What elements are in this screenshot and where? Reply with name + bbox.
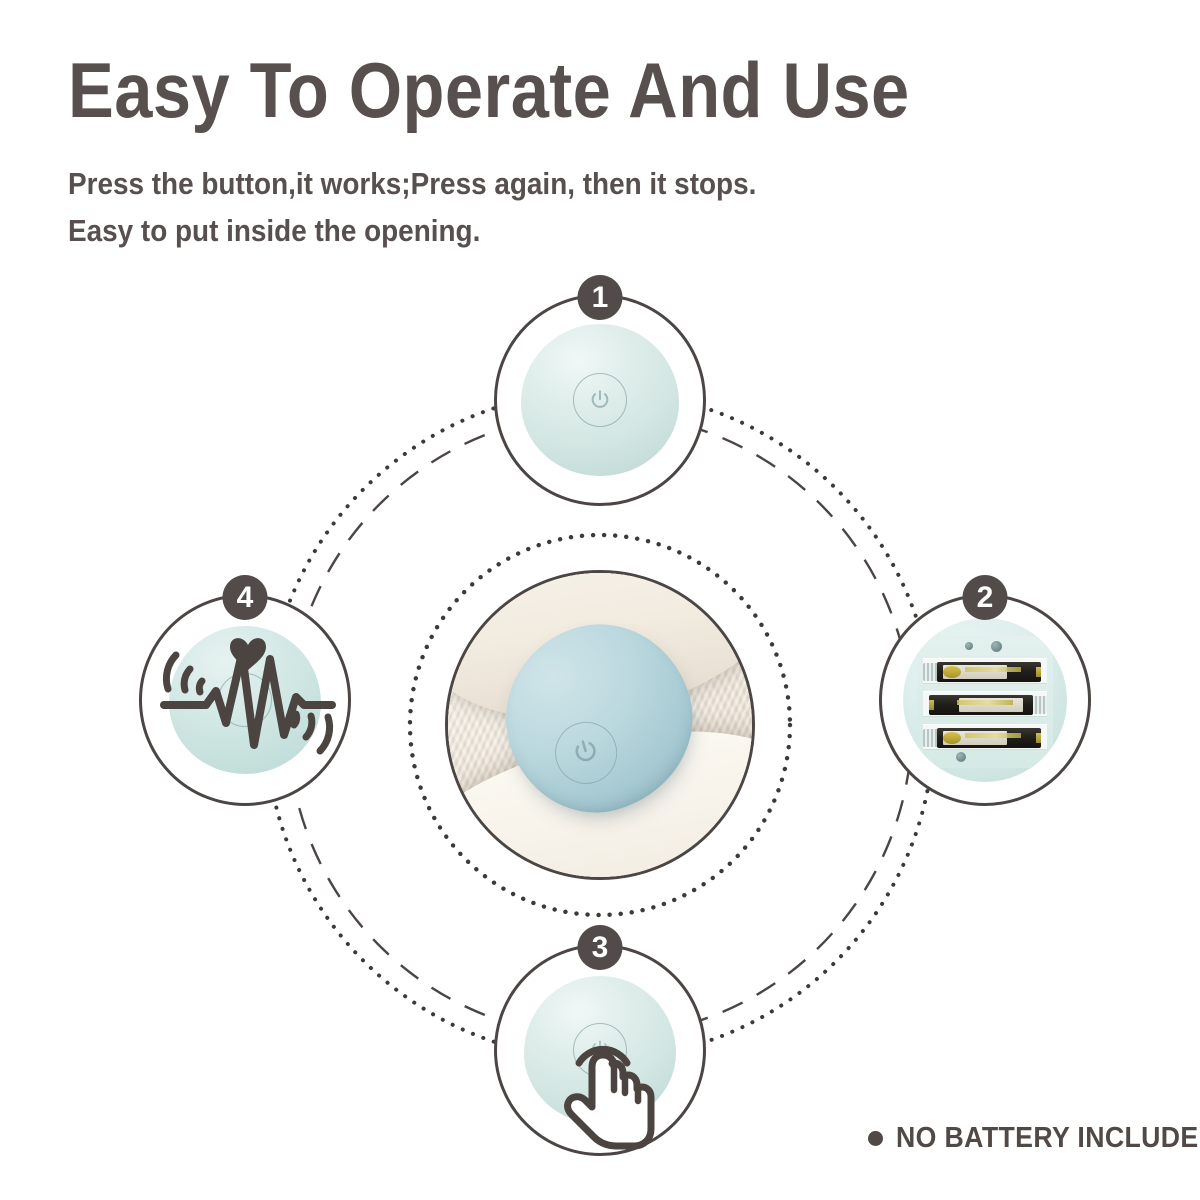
screw-icon: [965, 642, 973, 650]
power-icon: [589, 1038, 611, 1062]
device-puck-1: [521, 324, 679, 476]
battery-terminal: [929, 700, 934, 710]
battery-slot: [923, 724, 1047, 750]
screw-icon: [956, 752, 966, 762]
product-in-opening-photo: [445, 570, 755, 880]
step-panel-2[interactable]: 2: [879, 594, 1091, 806]
battery-terminal: [1036, 667, 1041, 677]
battery-stripe: [957, 700, 1013, 705]
battery-cell: [929, 695, 1033, 715]
step-panel-3[interactable]: 3: [494, 944, 706, 1156]
no-battery-note-text: NO BATTERY INCLUDED: [896, 1122, 1200, 1155]
step-badge-4: 4: [223, 575, 268, 620]
battery-stripe: [965, 667, 1021, 672]
step-badge-3: 3: [578, 925, 623, 970]
battery-slot: [923, 691, 1047, 717]
step-panel-4[interactable]: 4: [139, 594, 351, 806]
battery-cell: [937, 662, 1041, 682]
bullet-icon: [868, 1131, 883, 1146]
battery-terminal: [1036, 733, 1041, 743]
gp-logo-icon: [943, 666, 961, 678]
battery-compartment: [903, 618, 1067, 782]
infographic-canvas: Easy To Operate And Use Press the button…: [0, 0, 1200, 1200]
gp-logo-icon: [943, 732, 961, 744]
power-icon: [589, 388, 611, 412]
step-panel-1[interactable]: 1: [494, 294, 706, 506]
battery-slot: [923, 658, 1047, 684]
battery-cell: [937, 728, 1041, 748]
battery-spring: [1031, 696, 1047, 714]
no-battery-note: NO BATTERY INCLUDED: [868, 1122, 1200, 1155]
device-puck-4: [169, 626, 321, 774]
battery-compartment-inner: [917, 636, 1053, 768]
power-button-ring: [218, 673, 272, 727]
device-puck-3: [524, 976, 676, 1124]
screw-icon: [991, 641, 1002, 652]
battery-stripe: [965, 733, 1021, 738]
step-badge-2: 2: [963, 575, 1008, 620]
step-badge-1: 1: [578, 275, 623, 320]
